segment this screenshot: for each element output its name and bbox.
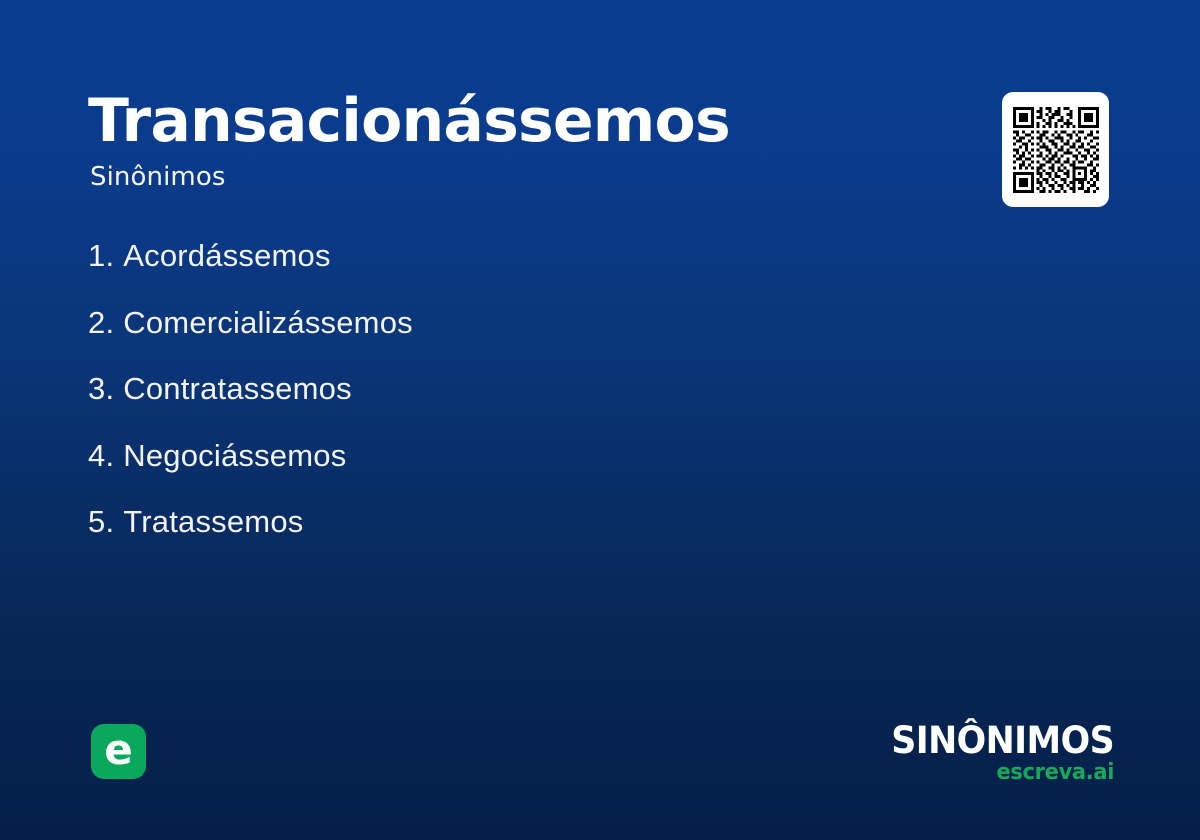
list-item-word: Contratassemos: [123, 369, 352, 409]
qr-code-panel[interactable]: [1002, 92, 1109, 207]
list-item-index: 5.: [88, 502, 114, 542]
list-item-word: Negociássemos: [123, 436, 346, 476]
synonyms-card: Transacionássemos Sinônimos: [0, 0, 1200, 840]
brand-lockup: SINÔNIMOS escreva.ai: [877, 722, 1114, 785]
list-item: 4. Negociássemos: [88, 436, 908, 503]
list-item-index: 1.: [88, 236, 114, 276]
escreva-e-icon: e: [91, 724, 146, 779]
page-subtitle: Sinônimos: [90, 162, 948, 192]
brand-tagline: escreva.ai: [889, 761, 1114, 785]
list-item: 5. Tratassemos: [88, 502, 908, 569]
page-title: Transacionássemos: [88, 86, 948, 156]
list-item-word: Acordássemos: [123, 236, 330, 276]
list-item-word: Tratassemos: [123, 502, 303, 542]
app-mark-letter: e: [104, 729, 133, 771]
qr-code-icon: [1013, 107, 1099, 193]
brand-name: SINÔNIMOS: [891, 722, 1114, 760]
list-item-word: Comercializássemos: [123, 303, 413, 343]
list-item: 3. Contratassemos: [88, 369, 908, 436]
list-item-index: 4.: [88, 436, 114, 476]
list-item-index: 3.: [88, 369, 114, 409]
heading-block: Transacionássemos Sinônimos: [88, 86, 948, 192]
list-item: 2. Comercializássemos: [88, 303, 908, 370]
list-item-index: 2.: [88, 303, 114, 343]
synonyms-list: 1. Acordássemos 2. Comercializássemos 3.…: [88, 236, 908, 569]
list-item: 1. Acordássemos: [88, 236, 908, 303]
